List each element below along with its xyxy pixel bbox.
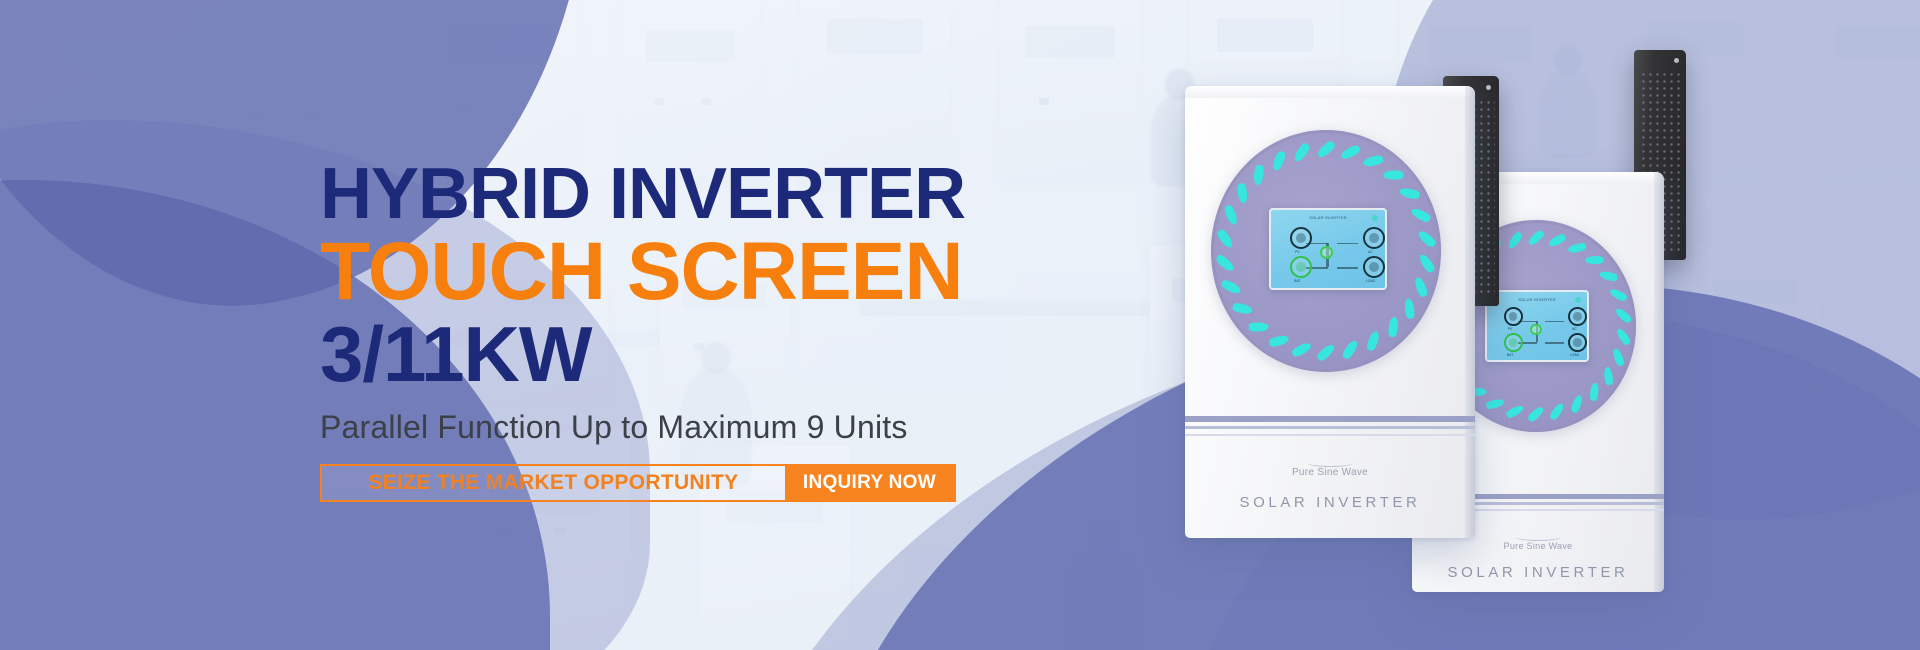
lcd-node-bat: [1290, 256, 1312, 278]
inverter-body-front: SOLAR INVERTER PVACBATLOAD Pure Sine Wav…: [1185, 86, 1475, 538]
model-name-front: SOLAR INVERTER: [1185, 494, 1475, 511]
headline-line-2: TOUCH SCREEN: [320, 231, 1080, 313]
cta-seize-label: SEIZE THE MARKET OPPORTUNITY: [322, 466, 785, 500]
sine-wave-icon: [1307, 459, 1353, 467]
lcd-flow-wire: [1337, 243, 1358, 245]
headline-line-1: HYBRID INVERTER: [320, 160, 1080, 229]
model-name-back: SOLAR INVERTER: [1412, 564, 1664, 581]
subtitle-text: Parallel Function Up to Maximum 9 Units: [320, 409, 1080, 446]
brand-tagline-text: Pure Sine Wave: [1504, 541, 1573, 551]
lcd-node-load: [1568, 333, 1587, 352]
headline-block: HYBRID INVERTER TOUCH SCREEN 3/11KW Para…: [320, 160, 1080, 502]
lcd-node-load: [1363, 256, 1385, 278]
sine-wave-icon: [1515, 533, 1561, 541]
lcd-caption: SOLAR INVERTER: [1487, 297, 1587, 302]
product-inverter-front: SOLAR INVERTER PVACBATLOAD Pure Sine Wav…: [1185, 68, 1485, 538]
lcd-node-pv: [1504, 307, 1523, 326]
lcd-node-pv: [1290, 227, 1312, 249]
lcd-flow-wire: [1337, 267, 1358, 269]
lcd-node-label: AC: [1524, 327, 1589, 331]
accent-stripes-front: [1185, 416, 1475, 442]
inquiry-now-button[interactable]: INQUIRY NOW: [785, 466, 954, 500]
lcd-node-label: LOAD: [1313, 279, 1387, 283]
lcd-node-label: LOAD: [1524, 353, 1589, 357]
promo-banner: HYBRID INVERTER TOUCH SCREEN 3/11KW Para…: [0, 0, 1920, 650]
lcd-node-ac: [1363, 227, 1385, 249]
wifi-icon: [1372, 215, 1378, 221]
cta-row[interactable]: SEIZE THE MARKET OPPORTUNITY INQUIRY NOW: [320, 464, 956, 502]
lcd-node-label: AC: [1313, 250, 1387, 254]
headline-line-3: 3/11KW: [320, 315, 1080, 393]
lcd-flow-wire: [1545, 321, 1564, 322]
lcd-node-bat: [1504, 333, 1523, 352]
lcd-display-back: SOLAR INVERTER PVACBATLOAD: [1485, 290, 1589, 362]
lcd-display-front: SOLAR INVERTER PVACBATLOAD: [1269, 208, 1387, 290]
brand-tagline-text: Pure Sine Wave: [1292, 467, 1368, 478]
brand-tagline-front: Pure Sine Wave: [1185, 458, 1475, 478]
wifi-icon: [1575, 297, 1581, 303]
lcd-flow-wire: [1545, 342, 1564, 343]
lcd-caption: SOLAR INVERTER: [1271, 215, 1385, 220]
lcd-node-ac: [1568, 307, 1587, 326]
